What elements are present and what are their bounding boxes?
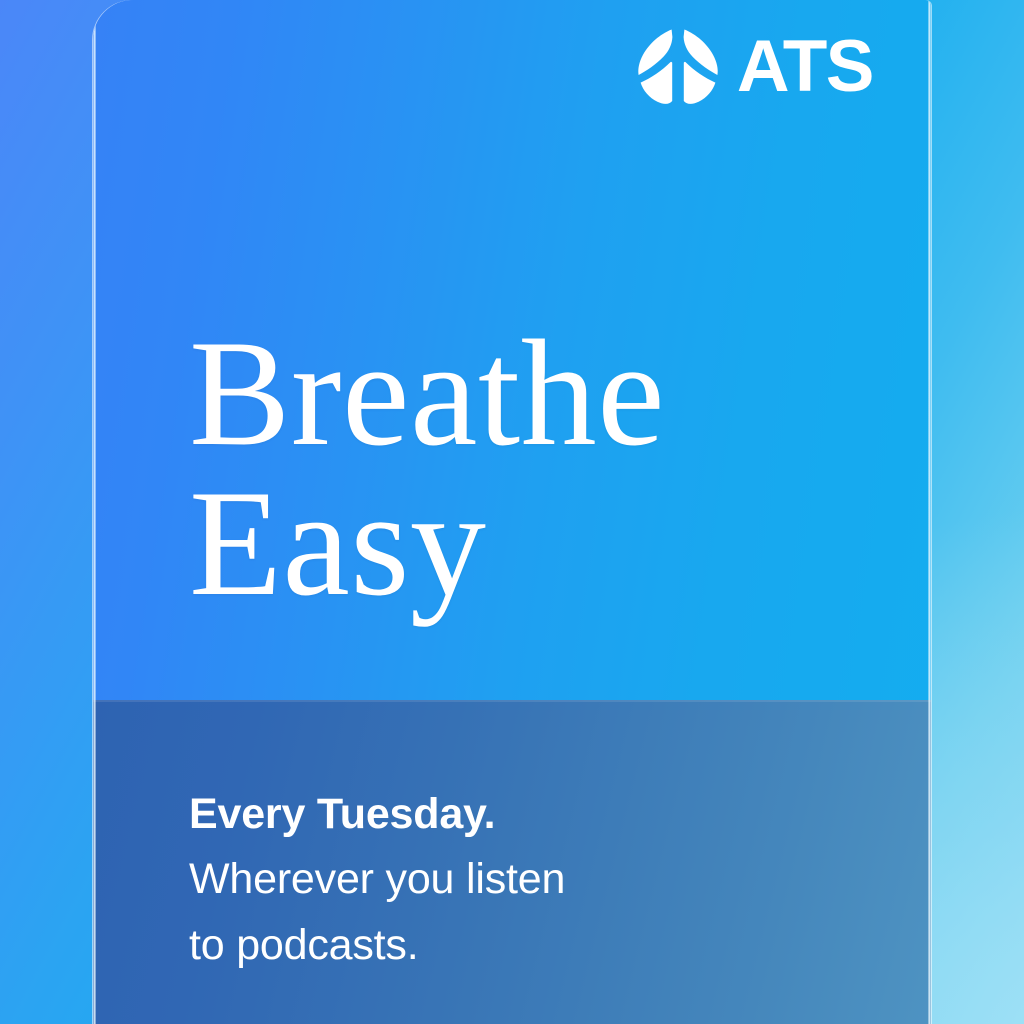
podcast-promo-card: ATS Breathe Easy Every Tuesday. Wherever…	[93, 0, 931, 1024]
page-title: Breathe Easy	[189, 318, 665, 619]
release-schedule-label: Every Tuesday.	[189, 782, 891, 847]
promo-graphic-canvas: ATS Breathe Easy Every Tuesday. Wherever…	[0, 0, 1024, 1024]
release-info-band: Every Tuesday. Wherever you listen to po…	[93, 700, 931, 1024]
headline-line-1: Breathe	[189, 318, 665, 468]
availability-label-line-1: Wherever you listen	[189, 847, 891, 912]
ats-logo-lockup[interactable]: ATS	[636, 26, 873, 106]
release-info-text: Every Tuesday. Wherever you listen to po…	[189, 782, 891, 978]
availability-label-line-2: to podcasts.	[189, 913, 891, 978]
ats-wordmark: ATS	[737, 30, 873, 103]
ats-lung-logo-icon	[636, 26, 720, 106]
headline-line-2: Easy	[189, 468, 665, 618]
